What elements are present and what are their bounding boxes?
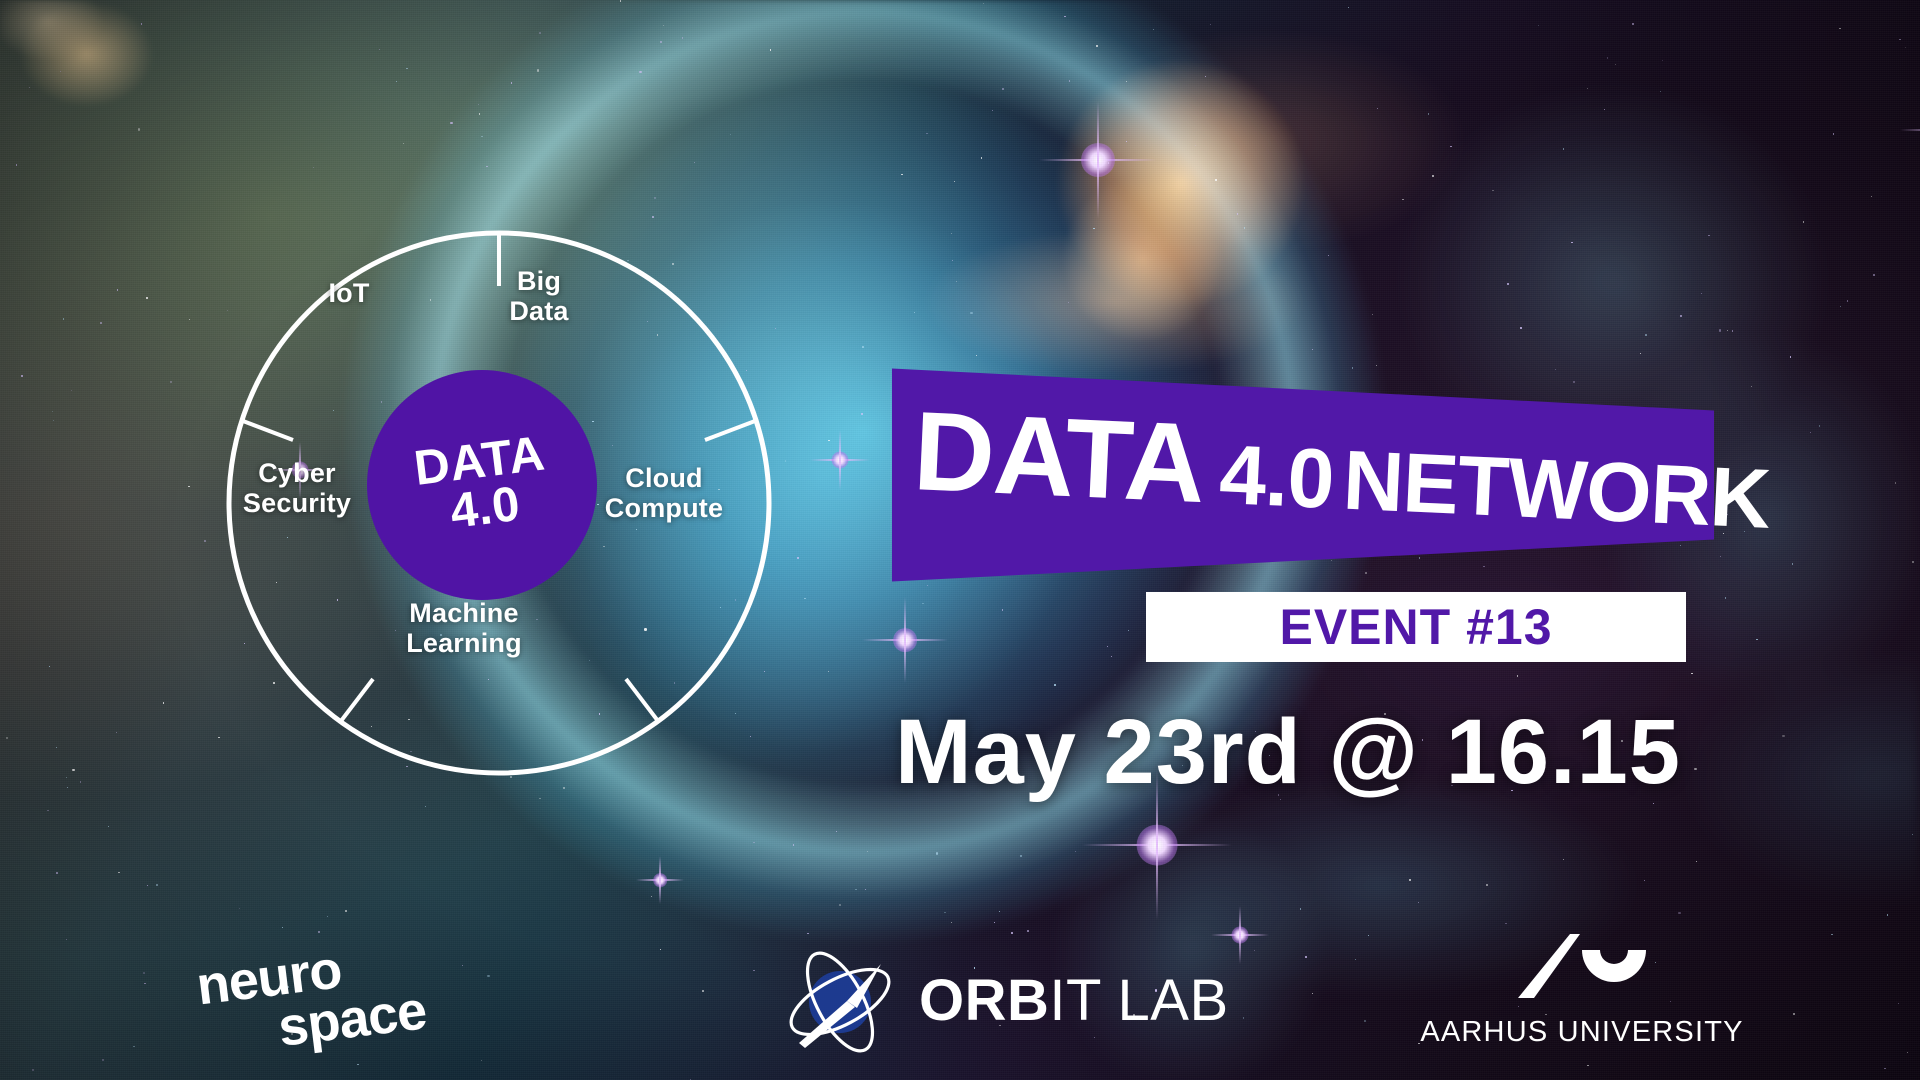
event-number-label: EVENT #13	[1279, 598, 1552, 656]
orbit-lab-wordmark-bold: ORB	[919, 968, 1049, 1033]
wheel-label-big-data: Big Data	[464, 266, 614, 326]
orbit-atom-icon	[785, 944, 897, 1056]
orbit-lab-wordmark-light: IT LAB	[1049, 968, 1228, 1033]
orbit-lab-logo: ORBIT LAB	[785, 944, 1229, 1056]
wheel-hub: DATA 4.0	[367, 370, 597, 600]
neurospace-logo: neuro space	[194, 923, 526, 1080]
banner-word-data: DATA	[911, 388, 1207, 526]
au-monogram-icon	[1516, 934, 1648, 1004]
orbit-lab-wordmark: ORBIT LAB	[919, 967, 1229, 1034]
partner-logo-row: neuro space ORBIT LAB	[0, 930, 1920, 1070]
banner-word-network: NETWORK	[1341, 433, 1772, 546]
wheel-label-ml: Machine Learning	[349, 598, 579, 658]
banner-word-version: 4.0	[1218, 427, 1336, 526]
event-poster: IoT Big Data Cloud Compute Machine Learn…	[0, 0, 1920, 1080]
wheel-hub-text: DATA 4.0	[411, 430, 552, 539]
data-4-0-wheel-diagram: IoT Big Data Cloud Compute Machine Learn…	[214, 218, 784, 788]
event-number-badge: EVENT #13	[1146, 592, 1686, 662]
wheel-label-iot: IoT	[254, 278, 444, 308]
aarhus-university-logo: AARHUS UNIVERSITY	[1432, 934, 1732, 1066]
aarhus-university-wordmark: AARHUS UNIVERSITY	[1420, 1016, 1743, 1049]
event-date-time: May 23rd @ 16.15	[895, 700, 1715, 805]
